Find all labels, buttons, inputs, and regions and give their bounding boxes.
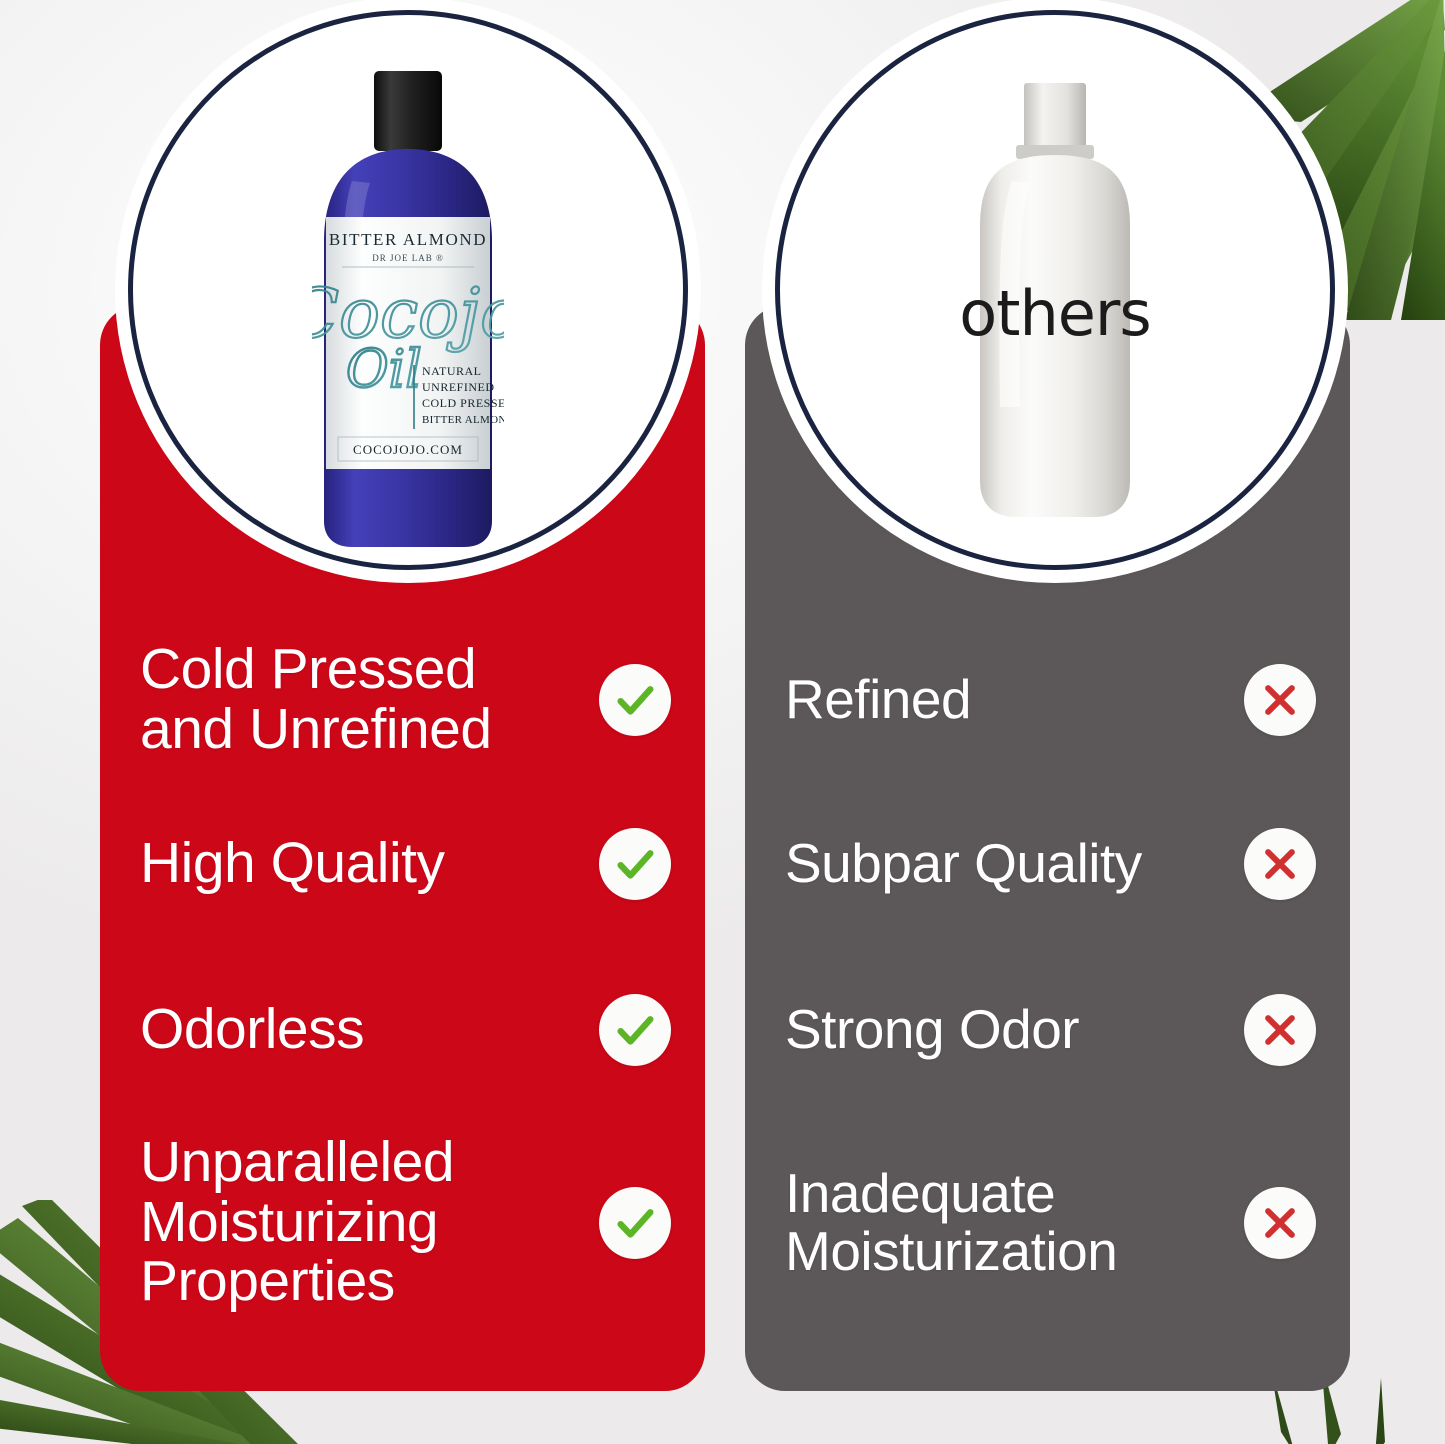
- check-badge: [599, 664, 671, 736]
- feature-label: Odorless: [140, 1000, 364, 1060]
- drawback-label: Inadequate Moisturization: [785, 1165, 1117, 1281]
- feature-row-odorless[interactable]: Odorless: [100, 951, 705, 1108]
- drawback-row-refined[interactable]: Refined: [745, 623, 1350, 777]
- check-icon: [612, 677, 658, 723]
- cross-badge: [1244, 994, 1316, 1066]
- feature-label: Cold Pressed and Unrefined: [140, 640, 492, 760]
- bottle-label-sub: DR JOE LAB ®: [372, 253, 444, 263]
- check-badge: [599, 1187, 671, 1259]
- check-badge: [599, 994, 671, 1066]
- others-bottle-label: others: [780, 277, 1330, 350]
- check-icon: [612, 1007, 658, 1053]
- others-product-circle: others: [775, 10, 1335, 570]
- cocojojo-bottle-image: BITTER ALMOND DR JOE LAB ® Cocojo Oil NA…: [312, 69, 504, 549]
- drawback-row-moisturization[interactable]: Inadequate Moisturization: [745, 1115, 1350, 1330]
- cross-icon: [1257, 1007, 1303, 1053]
- drawback-label: Strong Odor: [785, 1001, 1079, 1059]
- bottle-brand-script-2: Oil: [346, 340, 422, 400]
- bottle-spec-4: BITTER ALMOND: [422, 414, 504, 426]
- check-icon: [612, 1200, 658, 1246]
- feature-row-cold-pressed[interactable]: Cold Pressed and Unrefined: [100, 623, 705, 777]
- check-icon: [612, 841, 658, 887]
- feature-row-high-quality[interactable]: High Quality: [100, 784, 705, 944]
- feature-label: High Quality: [140, 834, 444, 894]
- bottle-website: COCOJOJO.COM: [353, 442, 463, 457]
- cross-icon: [1257, 677, 1303, 723]
- feature-row-moisturizing[interactable]: Unparalleled Moisturizing Properties: [100, 1115, 705, 1330]
- feature-label: Unparalleled Moisturizing Properties: [140, 1133, 454, 1313]
- cross-icon: [1257, 1200, 1303, 1246]
- cross-badge: [1244, 828, 1316, 900]
- cross-badge: [1244, 1187, 1316, 1259]
- cocojojo-product-circle: BITTER ALMOND DR JOE LAB ® Cocojo Oil NA…: [128, 10, 688, 570]
- bottle-spec-3: COLD PRESSED: [422, 396, 504, 410]
- bottle-spec-1: NATURAL: [422, 364, 482, 378]
- others-feature-list: Refined Subpar Quality Strong Odor: [745, 623, 1350, 1330]
- comparison-infographic: Cold Pressed and Unrefined High Quality …: [0, 0, 1445, 1444]
- drawback-label: Subpar Quality: [785, 835, 1142, 893]
- drawback-label: Refined: [785, 671, 971, 729]
- bottle-spec-2: UNREFINED: [422, 380, 495, 394]
- bottle-label-title: BITTER ALMOND: [329, 230, 487, 249]
- check-badge: [599, 828, 671, 900]
- cocojojo-feature-list: Cold Pressed and Unrefined High Quality …: [100, 623, 705, 1330]
- drawback-row-strong-odor[interactable]: Strong Odor: [745, 951, 1350, 1108]
- cross-icon: [1257, 841, 1303, 887]
- cross-badge: [1244, 664, 1316, 736]
- drawback-row-subpar-quality[interactable]: Subpar Quality: [745, 784, 1350, 944]
